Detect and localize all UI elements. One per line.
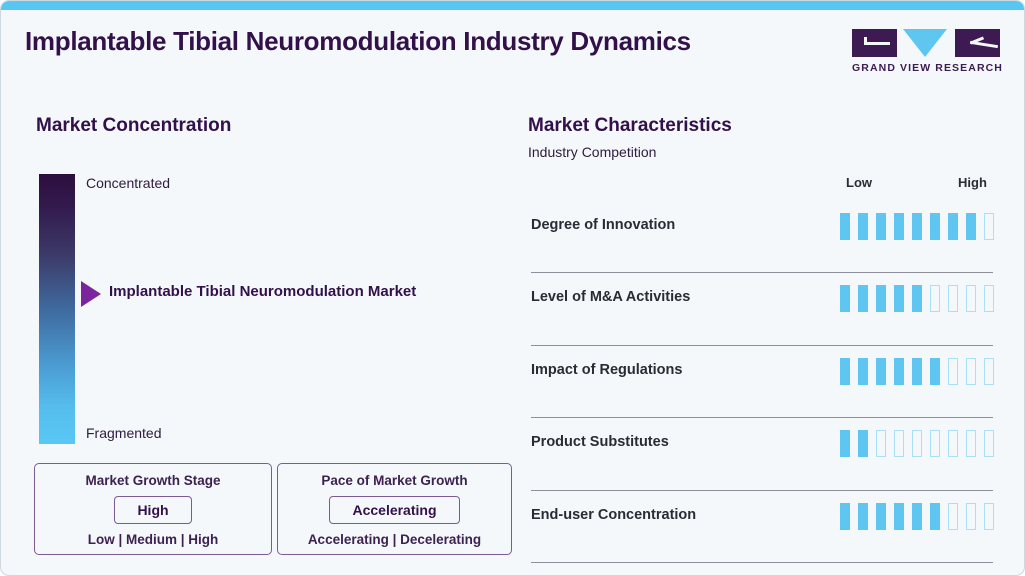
rating-segment-filled <box>912 213 922 240</box>
rating-segment-empty <box>948 358 958 385</box>
rating-segment-empty <box>876 430 886 457</box>
characteristic-row: Level of M&A Activities <box>528 273 994 345</box>
concentration-bottom-label: Fragmented <box>86 425 161 441</box>
rating-segment-filled <box>894 503 904 530</box>
rating-segment-filled <box>912 358 922 385</box>
market-concentration-title: Market Concentration <box>36 115 231 137</box>
logo-marks <box>852 29 1000 59</box>
rating-segment-empty <box>912 430 922 457</box>
logo-left-bar-icon <box>864 42 890 45</box>
market-characteristics-rows: Degree of InnovationLevel of M&A Activit… <box>528 201 994 563</box>
market-growth-stage-box: Market Growth Stage High Low | Medium | … <box>34 463 272 555</box>
concentration-gradient-bar <box>39 174 75 444</box>
rating-segment-filled <box>894 213 904 240</box>
row-divider <box>531 562 993 563</box>
characteristic-row: Impact of Regulations <box>528 346 994 418</box>
pace-of-market-growth-options: Accelerating | Decelerating <box>278 532 511 547</box>
rating-segment-empty <box>948 503 958 530</box>
rating-segment-empty <box>948 285 958 312</box>
characteristic-rating-bars <box>840 503 994 530</box>
rating-segment-filled <box>858 430 868 457</box>
top-accent-strip <box>1 1 1025 10</box>
rating-segment-filled <box>912 503 922 530</box>
rating-segment-filled <box>858 213 868 240</box>
rating-segment-empty <box>984 503 994 530</box>
rating-segment-filled <box>858 358 868 385</box>
rating-segment-filled <box>894 358 904 385</box>
market-growth-stage-options: Low | Medium | High <box>35 532 271 547</box>
market-characteristics-subtitle: Industry Competition <box>528 144 656 160</box>
rating-segment-empty <box>966 285 976 312</box>
logo-triangle-icon <box>903 29 947 57</box>
rating-segment-filled <box>840 503 850 530</box>
rating-segment-filled <box>930 358 940 385</box>
rating-segment-empty <box>894 430 904 457</box>
scale-high-label: High <box>958 175 987 190</box>
characteristic-rating-bars <box>840 213 994 240</box>
rating-segment-filled <box>966 213 976 240</box>
rating-segment-filled <box>912 285 922 312</box>
characteristic-label: Level of M&A Activities <box>531 289 690 305</box>
rating-segment-filled <box>894 285 904 312</box>
rating-segment-empty <box>984 285 994 312</box>
rating-segment-filled <box>876 358 886 385</box>
pace-of-market-growth-value: Accelerating <box>329 496 459 524</box>
rating-segment-filled <box>948 213 958 240</box>
characteristic-rating-bars <box>840 285 994 312</box>
market-growth-stage-title: Market Growth Stage <box>35 473 271 488</box>
characteristic-rating-bars <box>840 358 994 385</box>
logo-wordmark: GRAND VIEW RESEARCH <box>852 62 1000 74</box>
rating-segment-filled <box>840 430 850 457</box>
rating-segment-filled <box>840 285 850 312</box>
grand-view-research-logo: GRAND VIEW RESEARCH <box>852 29 1000 79</box>
rating-segment-empty <box>984 358 994 385</box>
rating-segment-filled <box>858 503 868 530</box>
rating-segment-empty <box>966 358 976 385</box>
characteristic-row: Degree of Innovation <box>528 201 994 273</box>
rating-segment-empty <box>966 430 976 457</box>
rating-segment-empty <box>984 430 994 457</box>
pace-of-market-growth-title: Pace of Market Growth <box>278 473 511 488</box>
characteristic-row: Product Substitutes <box>528 418 994 490</box>
rating-segment-filled <box>876 503 886 530</box>
rating-segment-filled <box>876 285 886 312</box>
infographic-page: Implantable Tibial Neuromodulation Indus… <box>0 0 1025 576</box>
scale-low-label: Low <box>846 175 872 190</box>
rating-segment-filled <box>858 285 868 312</box>
rating-segment-empty <box>984 213 994 240</box>
characteristic-label: End-user Concentration <box>531 507 696 523</box>
characteristic-label: Product Substitutes <box>531 434 669 450</box>
pace-of-market-growth-box: Pace of Market Growth Accelerating Accel… <box>277 463 512 555</box>
characteristic-label: Degree of Innovation <box>531 217 675 233</box>
rating-segment-empty <box>930 430 940 457</box>
logo-left-tick-icon <box>864 37 867 45</box>
rating-segment-filled <box>840 213 850 240</box>
rating-segment-filled <box>840 358 850 385</box>
rating-segment-filled <box>930 213 940 240</box>
rating-segment-filled <box>930 503 940 530</box>
rating-segment-empty <box>966 503 976 530</box>
rating-segment-empty <box>930 285 940 312</box>
market-position-marker-icon <box>81 281 101 307</box>
characteristic-row: End-user Concentration <box>528 491 994 563</box>
concentration-top-label: Concentrated <box>86 175 170 191</box>
market-characteristics-title: Market Characteristics <box>528 115 732 137</box>
rating-segment-filled <box>876 213 886 240</box>
page-title: Implantable Tibial Neuromodulation Indus… <box>25 26 691 57</box>
market-position-label: Implantable Tibial Neuromodulation Marke… <box>109 283 416 300</box>
rating-segment-empty <box>948 430 958 457</box>
market-growth-stage-value: High <box>114 496 191 524</box>
characteristic-rating-bars <box>840 430 994 457</box>
characteristic-label: Impact of Regulations <box>531 362 682 378</box>
